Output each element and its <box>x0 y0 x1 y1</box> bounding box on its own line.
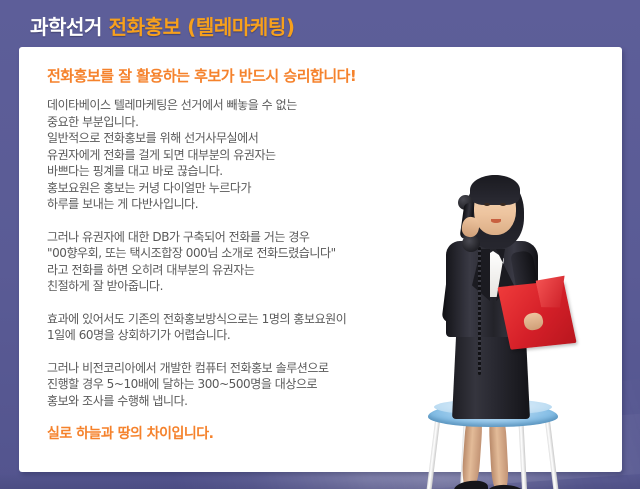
content-panel: 전화홍보를 잘 활용하는 후보가 반드시 승리합니다! 데이타베이스 텔레마케팅… <box>19 47 622 472</box>
telemarketing-woman-photo <box>412 155 572 489</box>
page-title-category: 과학선거 <box>30 15 102 39</box>
mouth <box>491 219 501 223</box>
stool-leg <box>425 413 441 489</box>
telephone-handset-mouthpiece <box>462 235 480 252</box>
paragraph-line: 중요한 부분입니다. <box>47 114 477 131</box>
hair-front <box>470 175 520 205</box>
right-eye <box>500 203 506 206</box>
telephone-cord <box>478 247 481 375</box>
stool-leg <box>544 413 560 489</box>
paragraph-line: 데이타베이스 텔레마케팅은 선거에서 빼놓을 수 없는 <box>47 97 477 114</box>
lead-headline: 전화홍보를 잘 활용하는 후보가 반드시 승리합니다! <box>47 67 477 85</box>
page-title: 과학선거 전화홍보 (텔레마케팅) <box>30 11 295 40</box>
page-title-topic: 전화홍보 (텔레마케팅) <box>109 15 295 39</box>
slide-header: 과학선거 전화홍보 (텔레마케팅) <box>0 0 640 48</box>
slide: 과학선거 전화홍보 (텔레마케팅) 전화홍보를 잘 활용하는 후보가 반드시 승… <box>0 0 640 489</box>
paragraph-line: 일반적으로 전화홍보를 위해 선거사무실에서 <box>47 130 477 147</box>
left-eye <box>484 203 490 206</box>
